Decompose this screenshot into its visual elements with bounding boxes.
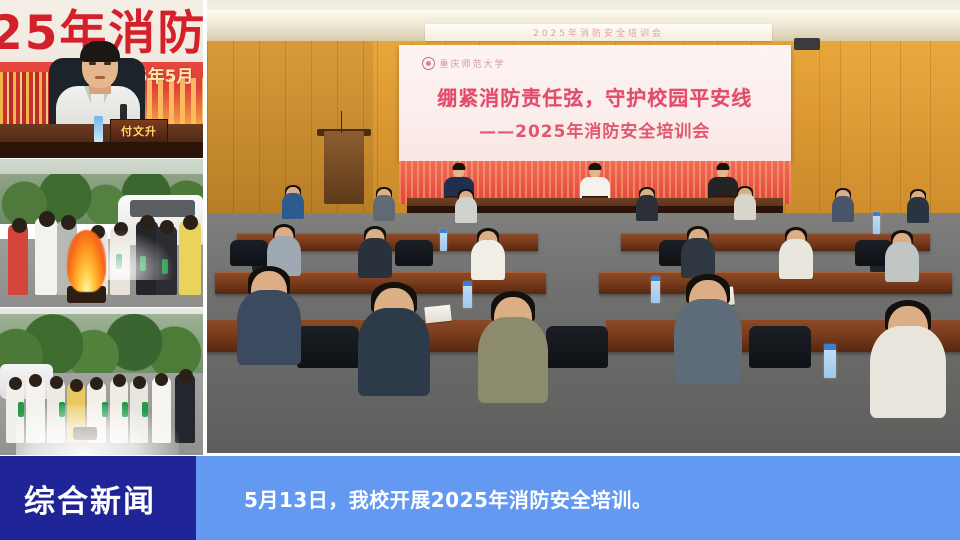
slide-subtitle: ——2025年消防安全培训会	[399, 117, 791, 142]
water-bottle	[463, 281, 472, 308]
ceiling-projector	[794, 38, 820, 51]
person-hair	[716, 163, 729, 170]
water-bottle	[824, 344, 836, 378]
category-tag[interactable]: 综合新闻	[0, 456, 196, 540]
audience-chair	[546, 326, 608, 368]
audience-member	[282, 193, 304, 219]
hall-wall-right-panel	[840, 41, 960, 213]
water-bottle	[651, 276, 660, 303]
audience-member	[779, 239, 813, 279]
flame	[67, 230, 106, 292]
person-head	[70, 379, 83, 392]
person-head	[183, 215, 198, 230]
person-head	[133, 376, 146, 389]
person-torso	[373, 195, 395, 221]
thumbnail-column: 25年消防 25年5月	[0, 0, 203, 455]
audience-member	[455, 197, 477, 223]
podium	[324, 131, 365, 203]
person-torso	[237, 290, 301, 365]
speaker-hair	[80, 41, 120, 62]
audience-member	[681, 238, 715, 278]
audience-chair	[230, 240, 268, 266]
audience-member	[373, 195, 395, 221]
audience-member	[358, 238, 392, 278]
water-bottle	[94, 116, 103, 142]
person-torso	[674, 299, 742, 383]
thumbnail-extinguisher-drill-canvas	[0, 308, 203, 455]
person-torso	[907, 197, 929, 223]
audience-member	[907, 197, 929, 223]
audience-member	[734, 194, 756, 220]
person-torso	[734, 194, 756, 220]
audience-member-foreground	[237, 290, 301, 365]
university-emblem-icon	[422, 57, 435, 70]
audience-member	[471, 240, 505, 280]
person-head	[12, 218, 27, 233]
person-head	[179, 369, 193, 383]
person-torso	[636, 195, 658, 221]
person-torso	[358, 238, 392, 278]
person-torso	[580, 177, 610, 198]
ceiling-light-strip	[207, 10, 960, 21]
water-bottle	[873, 212, 880, 234]
person-figure	[35, 218, 57, 295]
nameplate-text: 付文升	[111, 120, 167, 142]
speaker-mouth	[95, 76, 105, 79]
person-torso	[282, 193, 304, 219]
person-torso	[471, 240, 505, 280]
van-window	[130, 200, 195, 216]
overhead-banner-text: 2025年消防安全培训会	[425, 24, 771, 40]
person-torso	[358, 308, 430, 396]
audience-member	[636, 195, 658, 221]
thumbnail-speaker-canvas: 25年消防 25年5月	[0, 0, 203, 158]
category-tag-label: 综合新闻	[24, 476, 156, 521]
speaker-eye-right	[104, 62, 111, 65]
university-logo: 重庆师范大学	[422, 57, 505, 70]
thumbnail-speaker-photo[interactable]: 25年消防 25年5月	[0, 0, 203, 158]
person-hair	[453, 163, 466, 170]
person-head	[61, 215, 76, 230]
audience-member-foreground	[674, 299, 742, 383]
bottom-banner: 综合新闻 5月13日，我校开展2025年消防安全培训。	[0, 456, 960, 540]
person-head	[113, 374, 126, 387]
audience-chair	[297, 326, 359, 368]
podium-microphone	[341, 111, 342, 134]
person-torso	[779, 239, 813, 279]
person-torso	[870, 326, 946, 418]
person-torso	[885, 242, 919, 282]
thumbnail-fire-drill-canvas	[0, 159, 203, 307]
caption-area: 5月13日，我校开展2025年消防安全培训。	[196, 456, 960, 540]
audience-chair	[749, 326, 811, 368]
audience-member-foreground	[870, 326, 946, 418]
audience-chair	[395, 240, 433, 266]
thumbnail-extinguisher-drill-photo[interactable]	[0, 308, 203, 455]
slide-title: 绷紧消防责任弦，守护校园平安线	[399, 82, 791, 111]
person-hair	[588, 163, 601, 170]
news-collage-page: 25年消防 25年5月	[0, 0, 960, 540]
person-torso	[681, 238, 715, 278]
university-logo-text: 重庆师范大学	[439, 57, 505, 70]
audience-member-foreground	[478, 317, 548, 403]
microphone	[120, 104, 127, 120]
overhead-banner: 2025年消防安全培训会	[425, 24, 771, 40]
caption-text: 5月13日，我校开展2025年消防安全培训。	[244, 484, 652, 513]
person-torso	[478, 317, 548, 403]
person-torso	[455, 197, 477, 223]
extinguisher-foam-spray	[16, 405, 178, 455]
person-torso	[832, 196, 854, 222]
nameplate: 付文升	[110, 119, 168, 143]
main-hall-photo[interactable]: 2025年消防安全培训会 重庆师范大学 绷紧消防责任弦，守护校园平安线 ——20…	[207, 0, 960, 453]
person-figure	[179, 221, 201, 295]
thumbnail-fire-drill-photo[interactable]	[0, 159, 203, 307]
smoke-plume	[106, 230, 175, 280]
person-head	[39, 211, 55, 227]
audience-member	[885, 242, 919, 282]
audience-member	[832, 196, 854, 222]
person-head	[50, 376, 63, 389]
projection-screen: 重庆师范大学 绷紧消防责任弦，守护校园平安线 ——2025年消防安全培训会	[399, 45, 791, 161]
head-table-front	[0, 142, 203, 158]
person-figure	[8, 224, 28, 295]
speaker-eye-left	[89, 62, 96, 65]
audience-member-foreground	[358, 308, 430, 396]
water-bottle	[440, 229, 447, 251]
